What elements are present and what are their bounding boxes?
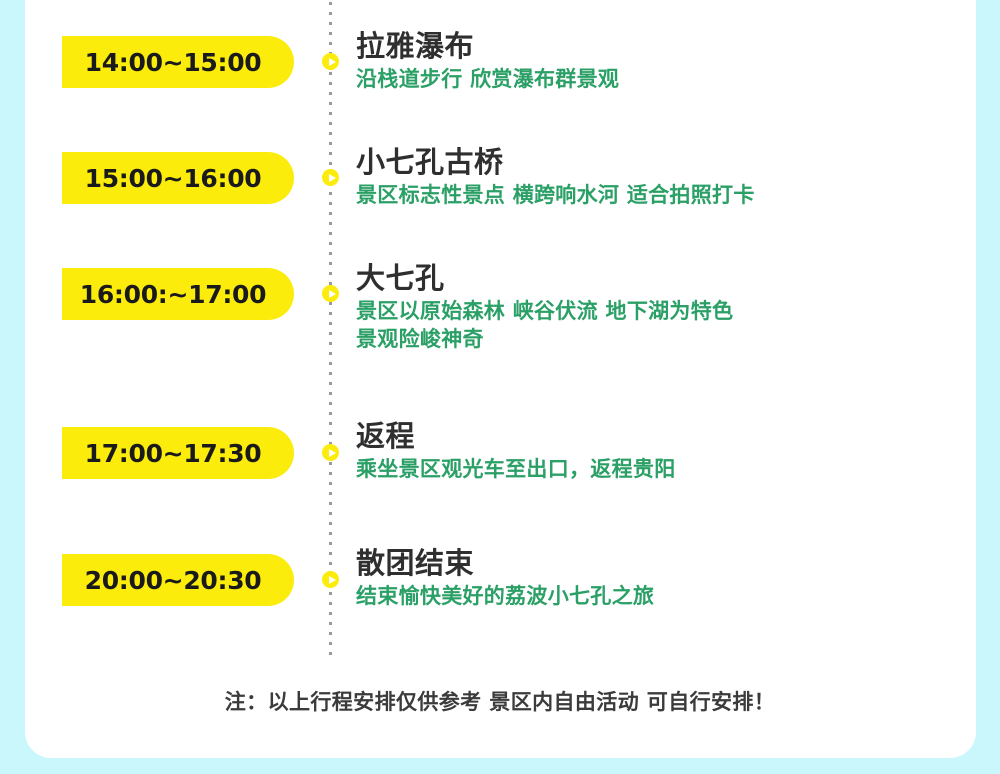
play-triangle-icon — [329, 58, 336, 66]
timeline-content: 返程 乘坐景区观光车至出口，返程贵阳 — [356, 420, 956, 484]
time-badge: 15:00~16:00 — [62, 152, 294, 204]
item-title: 小七孔古桥 — [356, 146, 956, 178]
item-title: 大七孔 — [356, 262, 956, 294]
play-triangle-icon — [329, 174, 336, 182]
itinerary-page: 14:00~15:00 拉雅瀑布 沿栈道步行 欣赏瀑布群景观 15:00~16:… — [0, 0, 1000, 774]
time-badge: 20:00~20:30 — [62, 554, 294, 606]
time-badge-label: 17:00~17:30 — [85, 439, 262, 468]
content-card — [25, 0, 976, 758]
play-triangle-icon — [329, 290, 336, 298]
play-triangle-icon — [329, 449, 336, 457]
item-description: 结束愉快美好的荔波小七孔之旅 — [356, 583, 956, 611]
play-triangle-icon — [329, 576, 336, 584]
play-circle-icon — [322, 169, 339, 186]
timeline-content: 散团结束 结束愉快美好的荔波小七孔之旅 — [356, 547, 956, 611]
time-badge-label: 16:00:~17:00 — [80, 280, 267, 309]
play-circle-icon — [322, 444, 339, 461]
time-badge-label: 14:00~15:00 — [85, 48, 262, 77]
play-circle-icon — [322, 53, 339, 70]
timeline-content: 拉雅瀑布 沿栈道步行 欣赏瀑布群景观 — [356, 30, 956, 94]
time-badge: 14:00~15:00 — [62, 36, 294, 88]
item-description: 乘坐景区观光车至出口，返程贵阳 — [356, 456, 956, 484]
item-title: 散团结束 — [356, 547, 956, 579]
time-badge: 17:00~17:30 — [62, 427, 294, 479]
time-badge-label: 20:00~20:30 — [85, 566, 262, 595]
play-circle-icon — [322, 285, 339, 302]
item-description: 景区标志性景点 横跨响水河 适合拍照打卡 — [356, 182, 956, 210]
item-title: 返程 — [356, 420, 956, 452]
time-badge-label: 15:00~16:00 — [85, 164, 262, 193]
item-title: 拉雅瀑布 — [356, 30, 956, 62]
timeline-content: 小七孔古桥 景区标志性景点 横跨响水河 适合拍照打卡 — [356, 146, 956, 210]
item-description: 沿栈道步行 欣赏瀑布群景观 — [356, 66, 956, 94]
timeline-dotted-rail — [329, 0, 332, 662]
footnote: 注：以上行程安排仅供参考 景区内自由活动 可自行安排！ — [0, 686, 1000, 716]
time-badge: 16:00:~17:00 — [62, 268, 294, 320]
timeline-content: 大七孔 景区以原始森林 峡谷伏流 地下湖为特色 景观险峻神奇 — [356, 262, 956, 354]
play-circle-icon — [322, 571, 339, 588]
item-description: 景区以原始森林 峡谷伏流 地下湖为特色 景观险峻神奇 — [356, 298, 956, 354]
